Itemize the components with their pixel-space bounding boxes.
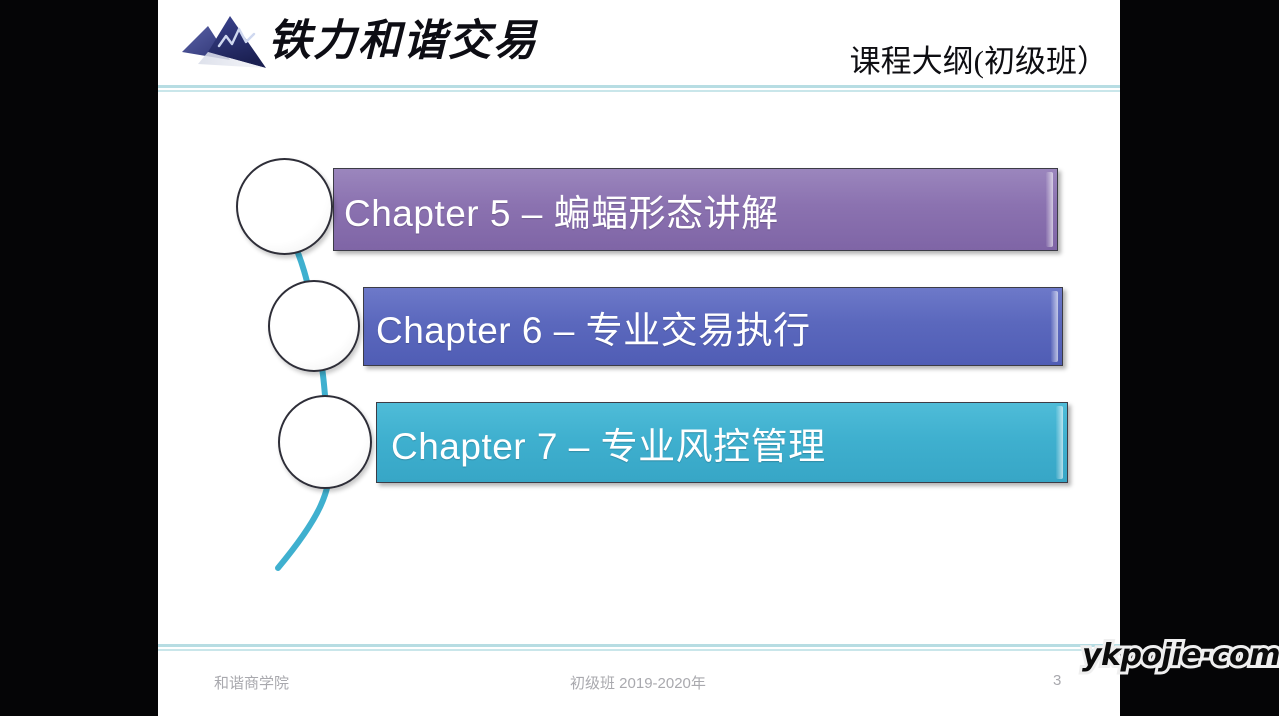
presentation-slide: 铁力和谐交易 课程大纲(初级班） Chapter 5 – 蝙蝠形态讲解 Chap… [158,0,1120,716]
chapter-list-diagram: Chapter 5 – 蝙蝠形态讲解 Chapter 6 – 专业交易执行 Ch… [158,90,1120,640]
slide-title: 课程大纲(初级班） [850,36,1108,81]
chapter-marker-7 [278,395,372,489]
chapter-bar-7-label: Chapter 7 – 专业风控管理 [377,416,826,470]
divider-line-upper [158,85,1120,88]
bar-highlight-sheen [1056,406,1063,479]
site-watermark: ykpojie·com [1082,638,1279,673]
footer-organization: 和谐商学院 [214,672,289,693]
chapter-bar-6-label: Chapter 6 – 专业交易执行 [364,300,811,354]
slide-page-number: 3 [1053,672,1061,689]
divider-line-upper [158,644,1120,647]
chapter-bar-7[interactable]: Chapter 7 – 专业风控管理 [376,402,1068,483]
bar-highlight-sheen [1046,172,1053,247]
bar-highlight-sheen [1051,291,1058,362]
chapter-bar-6[interactable]: Chapter 6 – 专业交易执行 [363,287,1063,366]
chapter-bar-5[interactable]: Chapter 5 – 蝙蝠形态讲解 [333,168,1058,251]
slide-footer: 和谐商学院 初级班 2019-2020年 3 [158,672,1120,702]
divider-line-lower [158,649,1120,651]
footer-course-term: 初级班 2019-2020年 [570,672,706,693]
footer-divider [158,644,1120,653]
chapter-marker-5 [236,158,333,255]
chapter-bar-5-label: Chapter 5 – 蝙蝠形态讲解 [334,183,779,237]
video-player-viewport: 铁力和谐交易 课程大纲(初级班） Chapter 5 – 蝙蝠形态讲解 Chap… [0,0,1279,716]
chapter-marker-6 [268,280,360,372]
brand-name: 铁力和谐交易 [268,12,528,72]
mountain-chart-logo-icon [178,12,276,74]
slide-header: 铁力和谐交易 课程大纲(初级班） [158,0,1120,84]
